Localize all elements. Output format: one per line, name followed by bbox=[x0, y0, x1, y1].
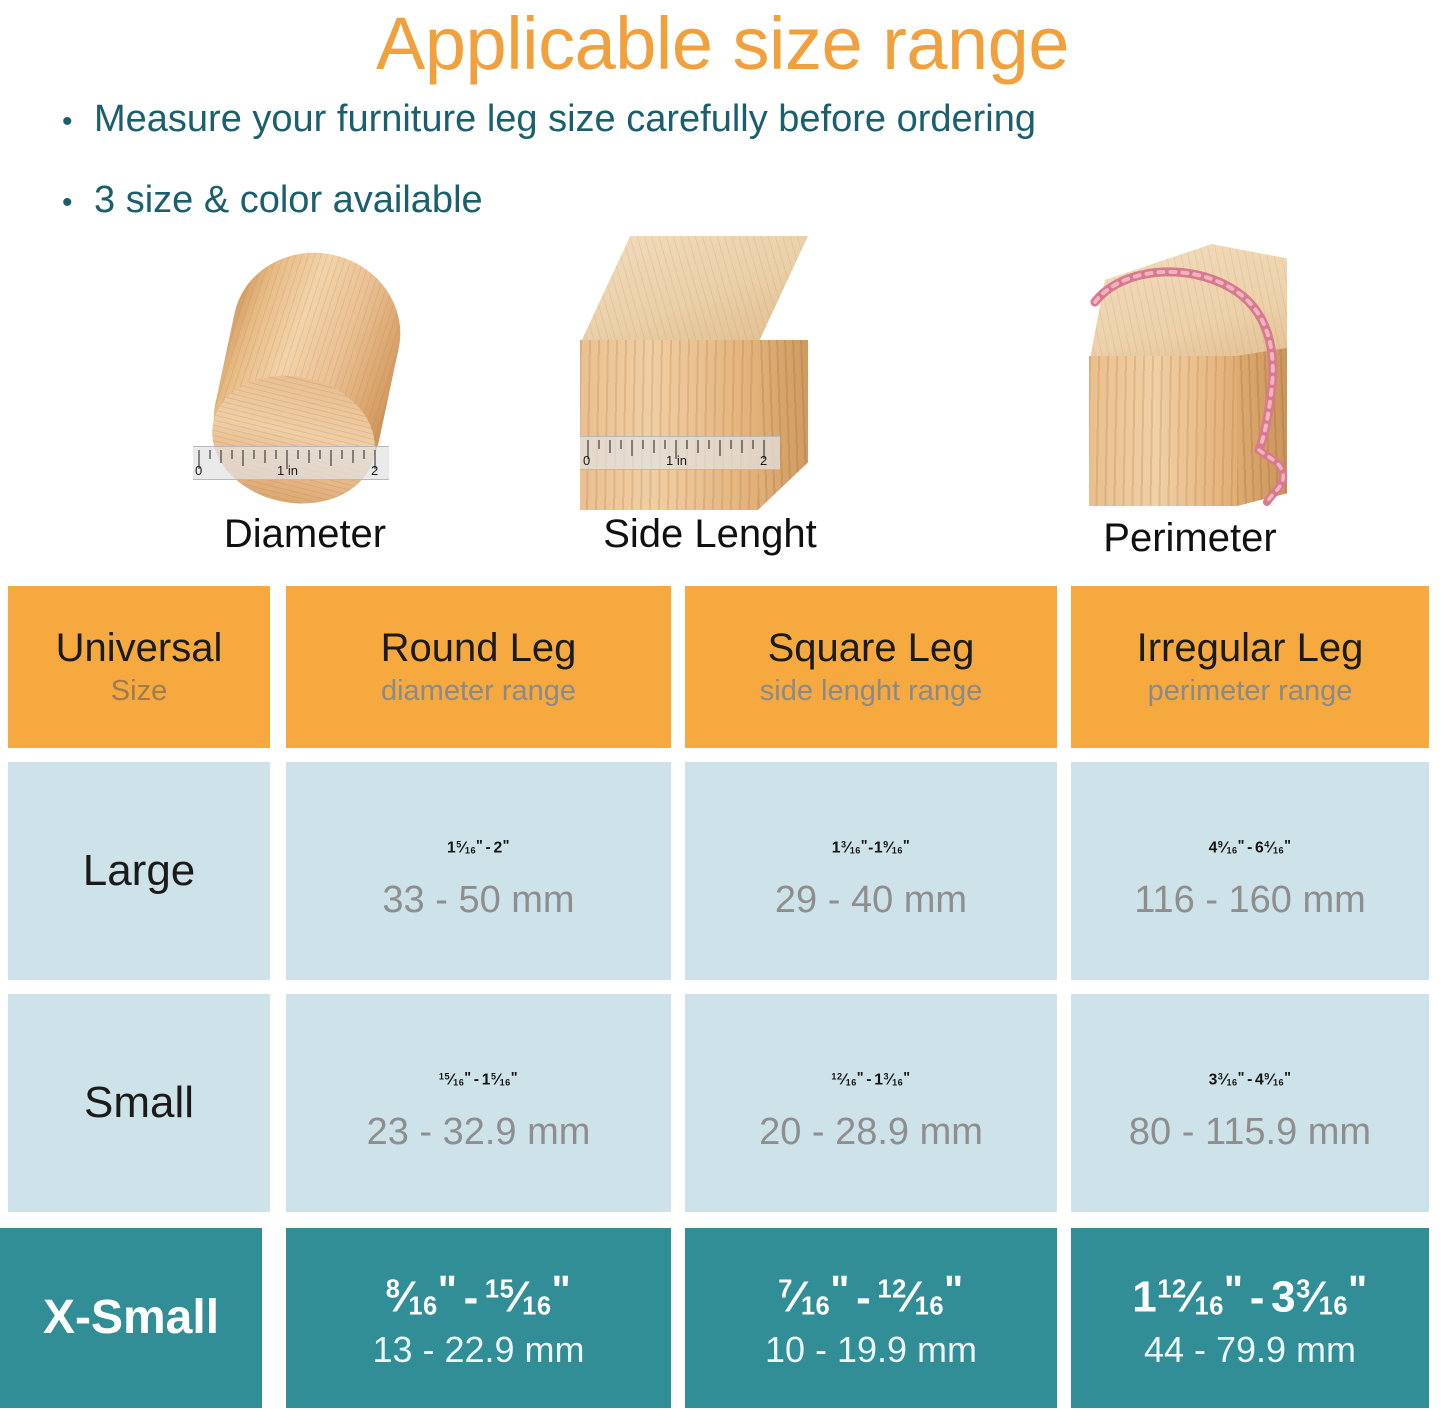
column-header-main: Irregular Leg bbox=[1137, 625, 1364, 671]
figure-irregular-leg: Perimeter bbox=[1020, 244, 1360, 562]
value-inches: 13⁄16"-19⁄16" bbox=[832, 819, 910, 876]
table-row: X-Small 8⁄16"-15⁄16" 13 - 22.9 mm 7⁄16"-… bbox=[0, 1228, 1445, 1408]
bullet-dot-icon: • bbox=[62, 178, 94, 228]
bullet-text: Measure your furniture leg size carefull… bbox=[94, 94, 1036, 144]
measurement-figures: 0 1 in 2 Diameter bbox=[0, 250, 1445, 580]
table-row: Large 15⁄16"-2" 33 - 50 mm 13⁄16"-19⁄16"… bbox=[0, 762, 1445, 980]
column-header-irregular-leg: Irregular Leg perimeter range bbox=[1071, 586, 1429, 748]
bullet-dot-icon: • bbox=[62, 97, 94, 147]
cell-square-large: 13⁄16"-19⁄16" 29 - 40 mm bbox=[685, 762, 1057, 980]
figure-round-leg: 0 1 in 2 Diameter bbox=[110, 250, 500, 558]
value-inches: 49⁄16"-64⁄16" bbox=[1209, 819, 1292, 876]
value-mm: 80 - 115.9 mm bbox=[1129, 1109, 1371, 1155]
round-wood-leg-icon: 0 1 in 2 bbox=[165, 250, 445, 510]
column-header-sub: Size bbox=[111, 673, 167, 709]
value-mm: 20 - 28.9 mm bbox=[759, 1109, 983, 1155]
column-header-main: Universal bbox=[56, 625, 223, 671]
column-header-sub: diameter range bbox=[381, 673, 576, 709]
value-inches: 33⁄16"-49⁄16" bbox=[1209, 1051, 1292, 1108]
list-item: • 3 size & color available bbox=[62, 175, 1445, 228]
figure-caption: Side Lenght bbox=[545, 510, 875, 558]
value-mm: 23 - 32.9 mm bbox=[367, 1109, 591, 1155]
ruler-label-start: 0 bbox=[195, 463, 202, 478]
bullet-list: • Measure your furniture leg size carefu… bbox=[0, 94, 1445, 228]
cell-square-small: 12⁄16"-13⁄16" 20 - 28.9 mm bbox=[685, 994, 1057, 1212]
figure-caption: Perimeter bbox=[1020, 514, 1360, 562]
page-title: Applicable size range bbox=[0, 0, 1445, 86]
column-header-main: Square Leg bbox=[768, 625, 975, 671]
cell-round-small: 15⁄16"-15⁄16" 23 - 32.9 mm bbox=[286, 994, 671, 1212]
irregular-wood-leg-icon bbox=[1055, 244, 1325, 514]
size-label-text: X-Small bbox=[43, 1292, 219, 1344]
ruler-label-middle: 1 in bbox=[277, 463, 298, 478]
cell-round-large: 15⁄16"-2" 33 - 50 mm bbox=[286, 762, 671, 980]
figure-caption: Diameter bbox=[110, 510, 500, 558]
column-header-round-leg: Round Leg diameter range bbox=[286, 586, 671, 748]
cell-square-xsmall: 7⁄16"-12⁄16" 10 - 19.9 mm bbox=[685, 1228, 1057, 1408]
value-inches: 15⁄16"-2" bbox=[447, 819, 510, 876]
ruler-icon: 0 1 in 2 bbox=[580, 436, 780, 470]
ruler-label-start: 0 bbox=[583, 453, 590, 468]
figure-square-leg: 0 1 in 2 Side Lenght bbox=[545, 236, 875, 558]
column-header-sub: side lenght range bbox=[760, 673, 983, 709]
ruler-label-middle: 1 in bbox=[666, 453, 687, 468]
bullet-text: 3 size & color available bbox=[94, 175, 483, 225]
column-header-sub: perimeter range bbox=[1148, 673, 1353, 709]
square-wood-leg-icon: 0 1 in 2 bbox=[580, 236, 840, 510]
cell-irregular-xsmall: 112⁄16"-33⁄16" 44 - 79.9 mm bbox=[1071, 1228, 1429, 1408]
value-inches: 112⁄16"-33⁄16" bbox=[1132, 1263, 1367, 1324]
ruler-label-end: 2 bbox=[371, 463, 378, 478]
row-size-label: Small bbox=[8, 994, 270, 1212]
value-mm: 116 - 160 mm bbox=[1134, 877, 1366, 923]
size-label-text: Small bbox=[84, 1077, 194, 1129]
ruler-icon: 0 1 in 2 bbox=[193, 446, 389, 480]
value-mm: 10 - 19.9 mm bbox=[765, 1327, 977, 1373]
ruler-label-end: 2 bbox=[760, 453, 767, 468]
column-header-universal-size: Universal Size bbox=[8, 586, 270, 748]
value-inches: 7⁄16"-12⁄16" bbox=[778, 1263, 963, 1324]
cell-irregular-large: 49⁄16"-64⁄16" 116 - 160 mm bbox=[1071, 762, 1429, 980]
value-inches: 12⁄16"-13⁄16" bbox=[831, 1051, 910, 1108]
cell-irregular-small: 33⁄16"-49⁄16" 80 - 115.9 mm bbox=[1071, 994, 1429, 1212]
value-inches: 15⁄16"-15⁄16" bbox=[439, 1051, 518, 1108]
measuring-string-icon bbox=[1055, 244, 1325, 514]
column-header-square-leg: Square Leg side lenght range bbox=[685, 586, 1057, 748]
list-item: • Measure your furniture leg size carefu… bbox=[62, 94, 1445, 147]
row-size-label: X-Small bbox=[0, 1228, 262, 1408]
value-mm: 44 - 79.9 mm bbox=[1144, 1327, 1356, 1373]
row-size-label: Large bbox=[8, 762, 270, 980]
cell-round-xsmall: 8⁄16"-15⁄16" 13 - 22.9 mm bbox=[286, 1228, 671, 1408]
size-label-text: Large bbox=[83, 845, 196, 897]
column-header-main: Round Leg bbox=[381, 625, 577, 671]
table-row: Small 15⁄16"-15⁄16" 23 - 32.9 mm 12⁄16"-… bbox=[0, 994, 1445, 1212]
size-range-table: Universal Size Round Leg diameter range … bbox=[0, 586, 1445, 1408]
value-mm: 13 - 22.9 mm bbox=[372, 1327, 584, 1373]
table-header-row: Universal Size Round Leg diameter range … bbox=[0, 586, 1445, 748]
value-inches: 8⁄16"-15⁄16" bbox=[386, 1263, 571, 1324]
value-mm: 33 - 50 mm bbox=[382, 877, 574, 923]
value-mm: 29 - 40 mm bbox=[775, 877, 967, 923]
